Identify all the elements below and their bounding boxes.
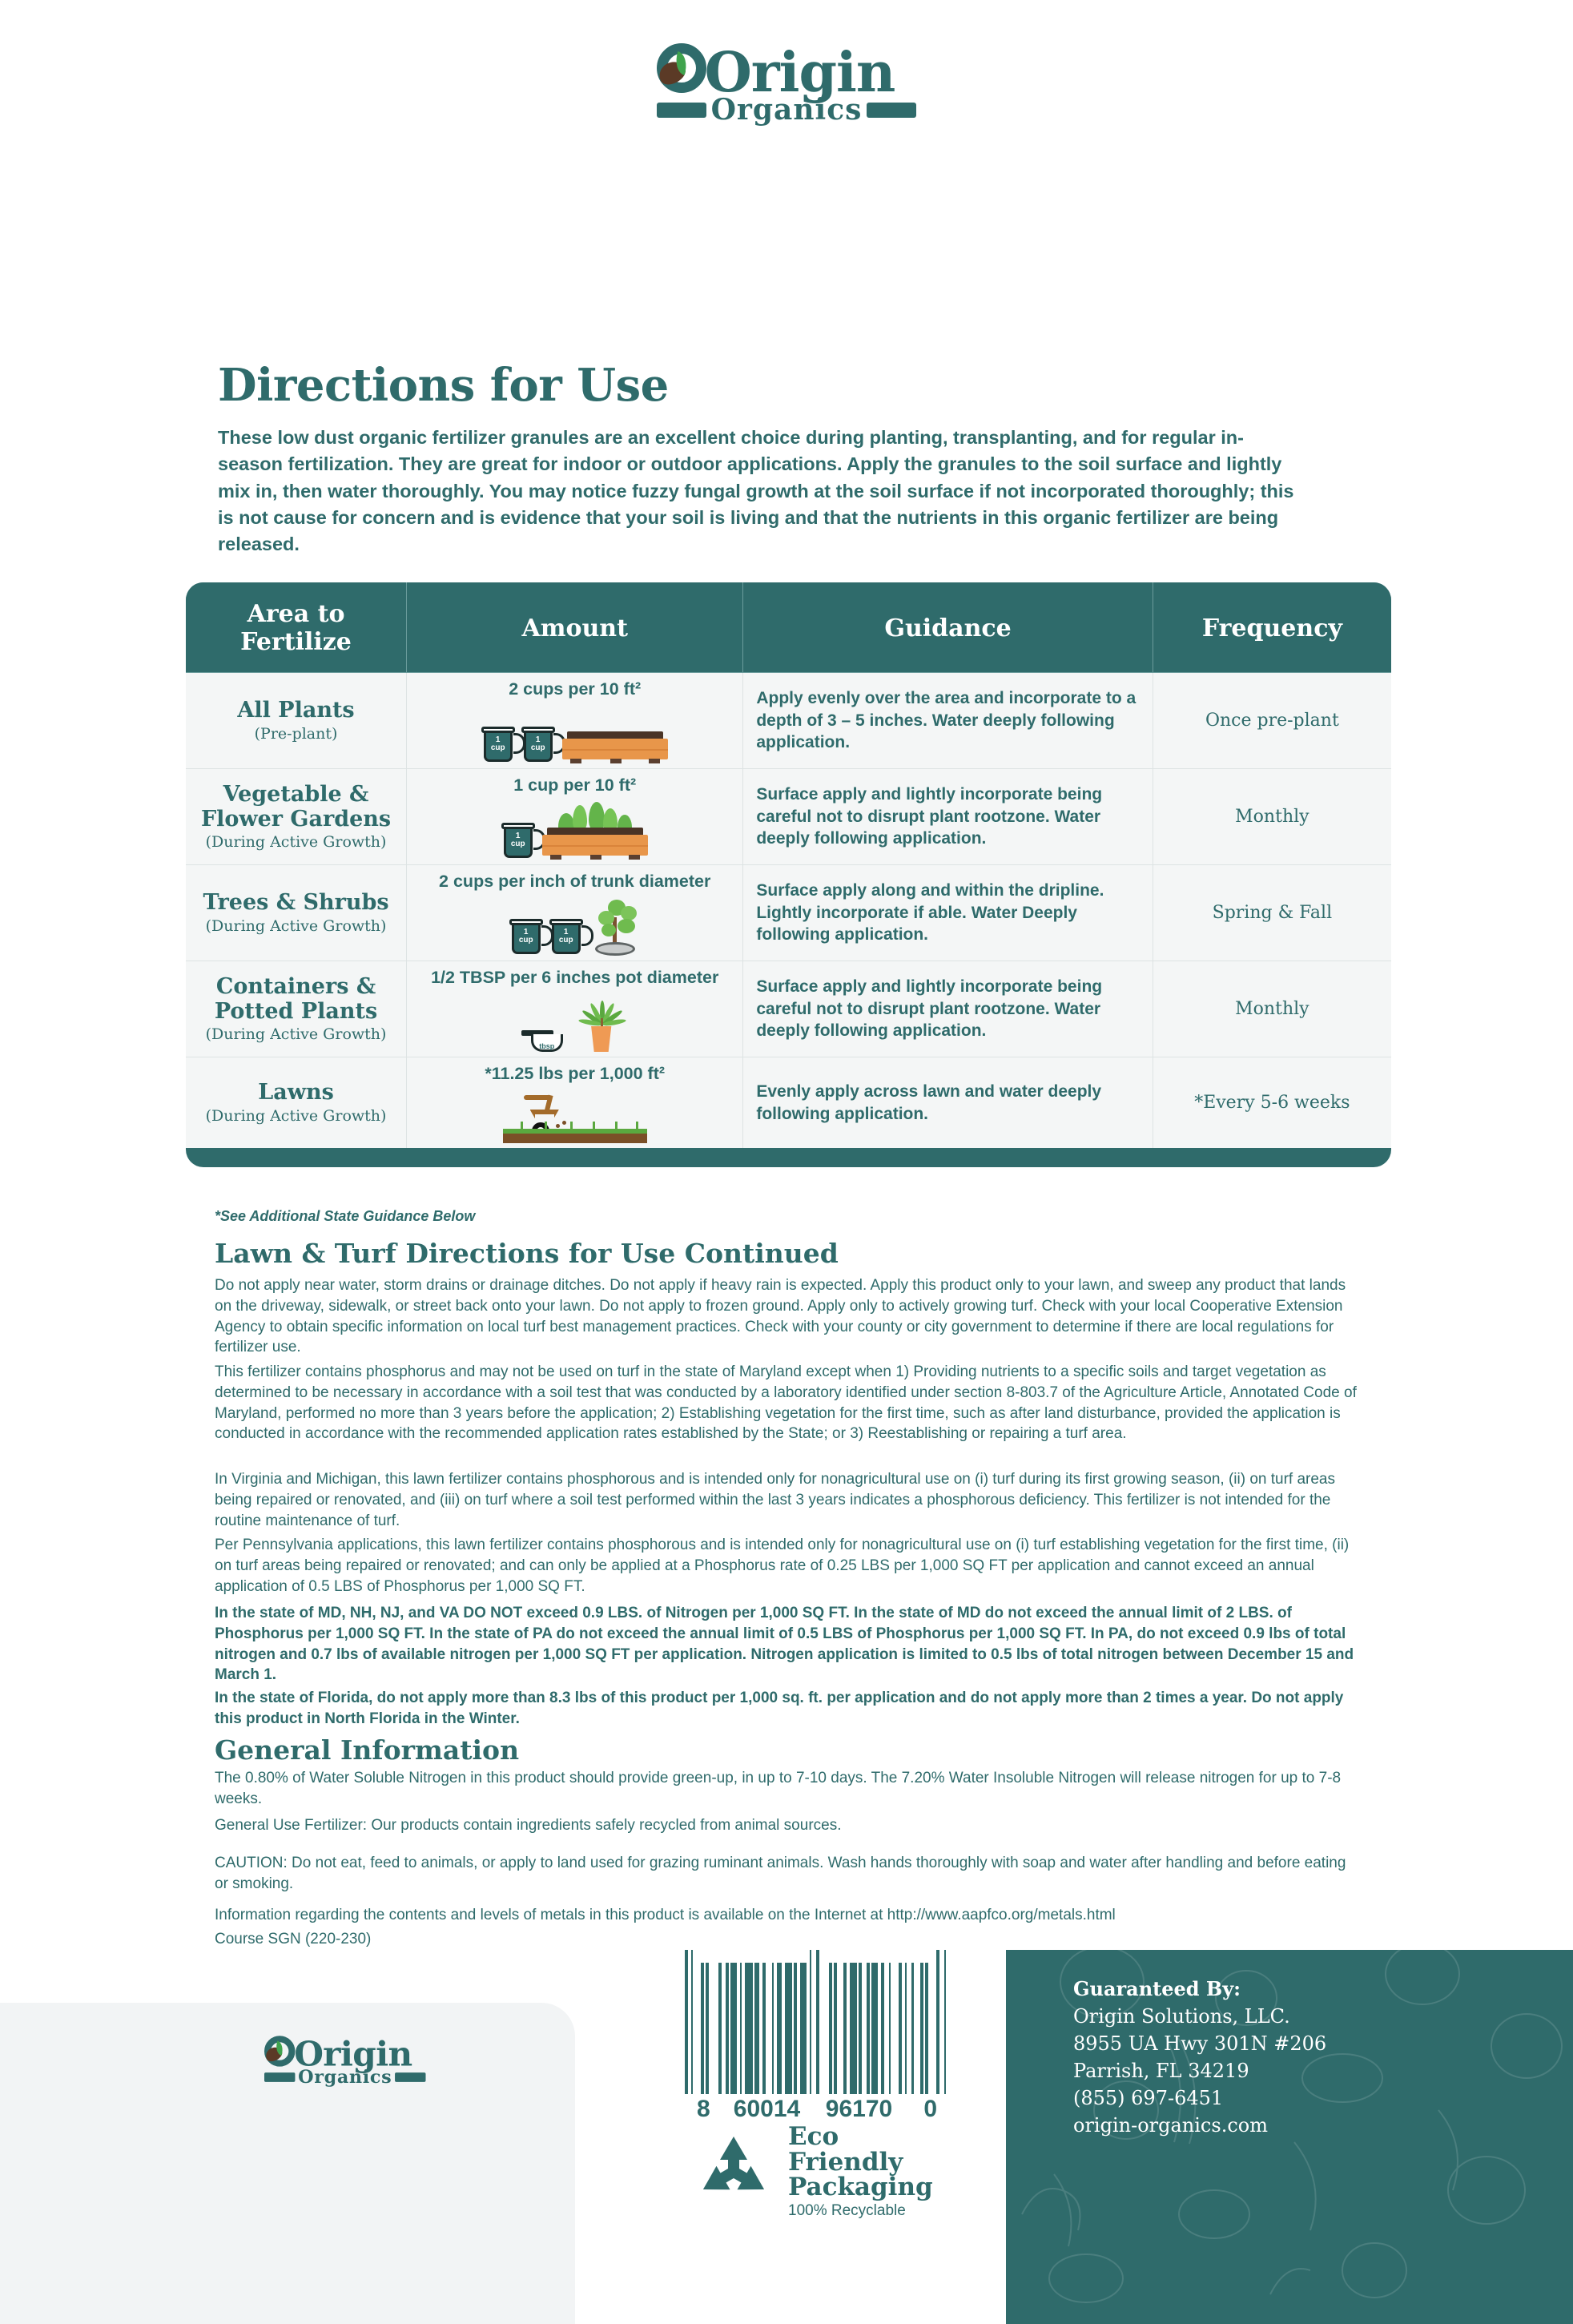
measuring-cup-icon: 1cup bbox=[510, 916, 545, 956]
col-header-area: Area to Fertilize bbox=[186, 582, 407, 673]
table-row: All Plants (Pre-plant) 2 cups per 10 ft²… bbox=[186, 673, 1391, 769]
lawn-paragraph-1: Do not apply near water, storm drains or… bbox=[215, 1275, 1360, 1358]
eco-friendly-badge: Eco Friendly Packaging 100% Recyclable bbox=[690, 2125, 933, 2220]
cell-guidance: Surface apply and lightly incorporate be… bbox=[743, 769, 1153, 865]
directions-table: Area to Fertilize Amount Guidance Freque… bbox=[186, 582, 1391, 1167]
area-sub: (During Active Growth) bbox=[192, 1107, 400, 1125]
cell-guidance: Surface apply along and within the dripl… bbox=[743, 865, 1153, 961]
logo-bar-right bbox=[867, 103, 916, 118]
amount-text: 1 cup per 10 ft² bbox=[412, 775, 738, 795]
general-paragraph-2: General Use Fertilizer: Our products con… bbox=[215, 1815, 1360, 1836]
area-name: Lawns bbox=[192, 1081, 400, 1106]
table-row: Containers & Potted Plants (During Activ… bbox=[186, 961, 1391, 1057]
cell-area: Lawns (During Active Growth) bbox=[186, 1057, 407, 1149]
table-row: Lawns (During Active Growth) *11.25 lbs … bbox=[186, 1057, 1391, 1149]
cell-area: All Plants (Pre-plant) bbox=[186, 673, 407, 769]
cell-amount: 2 cups per 10 ft² 1cup 1cup bbox=[407, 673, 743, 769]
cell-area: Containers & Potted Plants (During Activ… bbox=[186, 961, 407, 1057]
barcode-digits: 8 60014 96170 0 bbox=[685, 2096, 949, 2123]
cell-amount: *11.25 lbs per 1,000 ft² bbox=[407, 1057, 743, 1149]
spreader-lawn-icon bbox=[412, 1087, 738, 1143]
measuring-cup-icon: 1cup bbox=[502, 820, 537, 860]
general-information-title: General Information bbox=[215, 1734, 519, 1766]
one-cup-garden-bed-icon: 1cup bbox=[412, 799, 738, 860]
barcode-digit-0: 8 bbox=[697, 2096, 721, 2123]
brand-logo-footer: Origin Organics bbox=[264, 2035, 425, 2088]
lawn-bold-paragraph-2: In the state of Florida, do not apply mo… bbox=[215, 1688, 1360, 1730]
logo-bar-left bbox=[657, 103, 706, 118]
brand-name: Origin bbox=[705, 49, 895, 98]
cell-area: Vegetable & Flower Gardens (During Activ… bbox=[186, 769, 407, 865]
state-guidance-footnote: *See Additional State Guidance Below bbox=[215, 1208, 475, 1225]
cell-frequency: *Every 5-6 weeks bbox=[1153, 1057, 1391, 1149]
origin-seed-leaf-icon bbox=[657, 42, 710, 98]
guaranteed-label: Guaranteed By: bbox=[1073, 1976, 1326, 2003]
barcode-bars bbox=[685, 1950, 949, 2094]
cell-frequency: Monthly bbox=[1153, 961, 1391, 1057]
page-title: Directions for Use bbox=[218, 359, 669, 412]
amount-text: *11.25 lbs per 1,000 ft² bbox=[412, 1064, 738, 1084]
amount-text: 1/2 TBSP per 6 inches pot diameter bbox=[412, 968, 738, 988]
cell-area: Trees & Shrubs (During Active Growth) bbox=[186, 865, 407, 961]
cell-guidance: Surface apply and lightly incorporate be… bbox=[743, 961, 1153, 1057]
area-name: Containers & Potted Plants bbox=[192, 975, 400, 1025]
table-row: Trees & Shrubs (During Active Growth) 2 … bbox=[186, 865, 1391, 961]
cell-frequency: Once pre-plant bbox=[1153, 673, 1391, 769]
sgn-paragraph: Course SGN (220-230) bbox=[215, 1929, 1360, 1950]
lawn-paragraph-2: This fertilizer contains phosphorus and … bbox=[215, 1362, 1360, 1444]
area-sub: (During Active Growth) bbox=[192, 917, 400, 935]
eco-line-1: Eco bbox=[788, 2125, 933, 2150]
cell-frequency: Spring & Fall bbox=[1153, 865, 1391, 961]
general-paragraph-1: The 0.80% of Water Soluble Nitrogen in t… bbox=[215, 1768, 1360, 1810]
eco-line-2: Friendly bbox=[788, 2150, 933, 2176]
address-line-2: Parrish, FL 34219 bbox=[1073, 2057, 1326, 2084]
area-name: Trees & Shrubs bbox=[192, 891, 400, 916]
lawn-paragraph-3: In Virginia and Michigan, this lawn fert… bbox=[215, 1469, 1360, 1531]
tablespoon-potted-plant-icon: tbsp bbox=[412, 991, 738, 1052]
barcode-digit-2: 96170 bbox=[813, 2096, 905, 2123]
brand-logo-top: Origin Organics bbox=[0, 42, 1573, 127]
cell-amount: 2 cups per inch of trunk diameter 1cup 1… bbox=[407, 865, 743, 961]
lawn-spreader-icon bbox=[503, 1092, 647, 1143]
col-header-guidance: Guidance bbox=[743, 582, 1153, 673]
measuring-cup-icon: 1cup bbox=[482, 723, 517, 763]
col-header-frequency: Frequency bbox=[1153, 582, 1391, 673]
area-name: All Plants bbox=[192, 699, 400, 723]
eco-line-3: Packaging bbox=[788, 2175, 933, 2201]
raised-bed-icon bbox=[562, 731, 668, 763]
barcode-digit-3: 0 bbox=[905, 2096, 937, 2123]
cell-amount: 1 cup per 10 ft² 1cup bbox=[407, 769, 743, 865]
amount-text: 2 cups per 10 ft² bbox=[412, 679, 738, 699]
origin-seed-leaf-icon bbox=[264, 2035, 297, 2069]
tree-icon bbox=[590, 900, 640, 956]
area-sub: (During Active Growth) bbox=[192, 1025, 400, 1043]
cell-frequency: Monthly bbox=[1153, 769, 1391, 865]
company-name: Origin Solutions, LLC. bbox=[1073, 2003, 1326, 2030]
brand-subname: Organics bbox=[711, 93, 863, 127]
cell-guidance: Apply evenly over the area and incorpora… bbox=[743, 673, 1153, 769]
caution-paragraph: CAUTION: Do not eat, feed to animals, or… bbox=[215, 1853, 1360, 1895]
lawn-bold-paragraph-1: In the state of MD, NH, NJ, and VA DO NO… bbox=[215, 1603, 1360, 1686]
product-label-page: Origin Organics Directions for Use These… bbox=[0, 0, 1573, 2324]
area-name: Vegetable & Flower Gardens bbox=[192, 783, 400, 832]
measuring-cup-icon: 1cup bbox=[550, 916, 585, 956]
two-cups-tree-icon: 1cup 1cup bbox=[412, 895, 738, 956]
brand-subname: Organics bbox=[298, 2067, 392, 2088]
lawn-turf-title: Lawn & Turf Directions for Use Continued bbox=[215, 1238, 839, 1269]
intro-paragraph: These low dust organic fertilizer granul… bbox=[218, 425, 1299, 558]
cell-amount: 1/2 TBSP per 6 inches pot diameter tbsp bbox=[407, 961, 743, 1057]
garden-bed-icon bbox=[542, 802, 648, 860]
table-row: Vegetable & Flower Gardens (During Activ… bbox=[186, 769, 1391, 865]
logo-bar-right bbox=[395, 2072, 425, 2082]
potted-plant-icon bbox=[576, 993, 626, 1052]
col-header-amount: Amount bbox=[407, 582, 743, 673]
address-line-1: 8955 UA Hwy 301N #206 bbox=[1073, 2030, 1326, 2057]
lawn-paragraph-4: Per Pennsylvania applications, this lawn… bbox=[215, 1535, 1360, 1597]
barcode-digit-1: 60014 bbox=[721, 2096, 813, 2123]
website-url[interactable]: origin-organics.com bbox=[1073, 2112, 1326, 2139]
eco-line-4: 100% Recyclable bbox=[788, 2202, 933, 2220]
logo-bar-left bbox=[264, 2072, 295, 2082]
two-cups-raised-bed-icon: 1cup 1cup bbox=[412, 703, 738, 763]
metals-info-paragraph: Information regarding the contents and l… bbox=[215, 1905, 1360, 1926]
cell-guidance: Evenly apply across lawn and water deepl… bbox=[743, 1057, 1153, 1149]
guaranteed-by-block: Guaranteed By: Origin Solutions, LLC. 89… bbox=[1073, 1976, 1326, 2139]
phone-number: (855) 697-6451 bbox=[1073, 2084, 1326, 2112]
barcode: 8 60014 96170 0 bbox=[685, 1950, 949, 2123]
recycle-icon bbox=[690, 2132, 777, 2212]
brand-name: Origin bbox=[294, 2039, 412, 2069]
area-sub: (During Active Growth) bbox=[192, 833, 400, 851]
table-header-row: Area to Fertilize Amount Guidance Freque… bbox=[186, 582, 1391, 673]
area-sub: (Pre-plant) bbox=[192, 725, 400, 743]
tablespoon-icon: tbsp bbox=[525, 1021, 571, 1052]
amount-text: 2 cups per inch of trunk diameter bbox=[412, 872, 738, 892]
measuring-cup-icon: 1cup bbox=[522, 723, 557, 763]
